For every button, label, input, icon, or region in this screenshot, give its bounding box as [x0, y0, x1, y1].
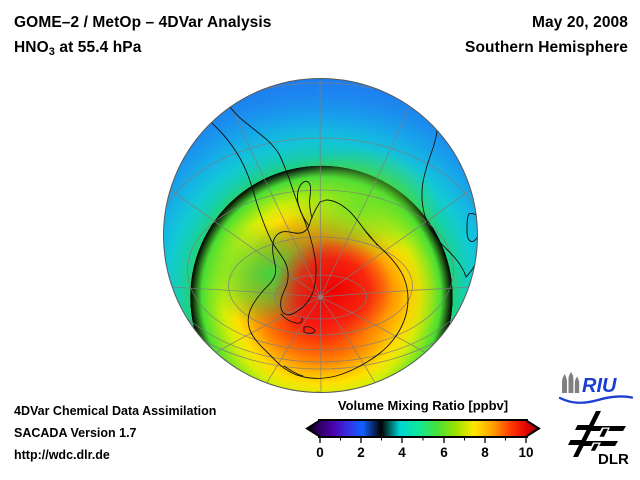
footer-line-url: http://wdc.dlr.de [14, 444, 314, 466]
colorbar-tick-6: 6 [440, 445, 448, 460]
species-level: at 55.4 hPa [55, 39, 142, 56]
footer-line-version: SACADA Version 1.7 [14, 422, 314, 444]
riu-wordmark: RIU [582, 375, 617, 397]
colorbar: Volume Mixing Ratio [ppbv] [305, 398, 541, 465]
colorbar-gradient [305, 418, 541, 444]
meridian-0 [320, 78, 321, 297]
species-formula: HNO [14, 39, 49, 56]
riu-stacks-icon [562, 372, 579, 393]
dlr-logo: DLR [566, 409, 632, 467]
colorbar-tick-10: 10 [518, 445, 533, 460]
colorbar-tick-8: 8 [481, 445, 489, 460]
footer-left-block: 4DVar Chemical Data Assimilation SACADA … [14, 400, 314, 466]
colorbar-title: Volume Mixing Ratio [ppbv] [305, 398, 541, 413]
globe-map [163, 78, 478, 393]
coastline-south-georgia [222, 365, 233, 370]
field-core [273, 238, 393, 342]
colorbar-tick-0: 0 [316, 445, 324, 460]
footer-line-method: 4DVar Chemical Data Assimilation [14, 400, 314, 422]
south-pole-marker [318, 295, 323, 300]
species-subscript: 3 [49, 46, 55, 58]
colorbar-tick-4: 4 [398, 445, 406, 460]
date-label: May 20, 2008 [328, 10, 628, 35]
header-right-block: May 20, 2008 Southern Hemisphere [328, 10, 628, 60]
globe-field [163, 78, 478, 393]
riu-logo: RIU [558, 371, 634, 405]
riu-wave-icon [560, 396, 632, 402]
dlr-wordmark: DLR [598, 451, 629, 467]
colorbar-bar [307, 420, 539, 437]
colorbar-tick-2: 2 [357, 445, 365, 460]
colorbar-tick-labels: 0 2 4 6 8 10 [305, 445, 541, 465]
region-label: Southern Hemisphere [328, 35, 628, 60]
